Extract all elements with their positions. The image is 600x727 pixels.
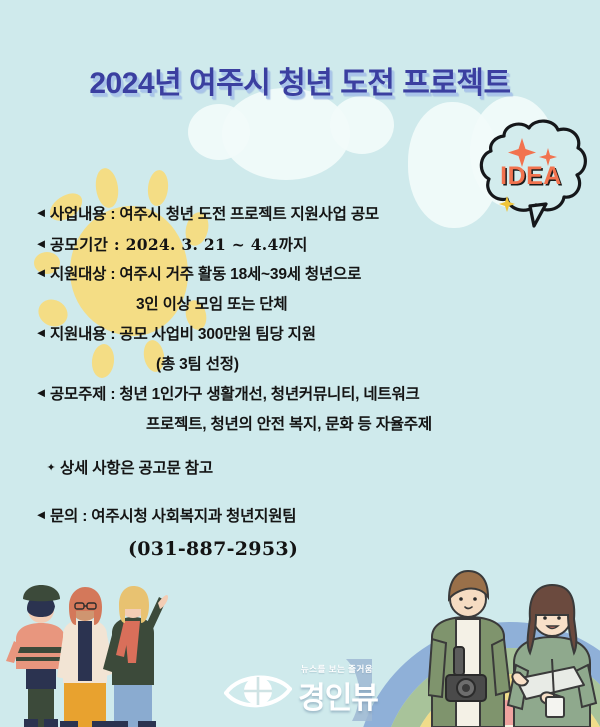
dash-bullet-icon: ◄ xyxy=(32,500,50,530)
list-item-label: 문의 : 여주시청 사회복지과 청년지원팀 xyxy=(50,502,296,532)
logo: 뉴스를 보는 즐거움 경인뷰 xyxy=(224,659,392,721)
list-item-label: 지원대상 : 여주시 거주 활동 18세~39세 청년으로 xyxy=(50,260,361,290)
list-item-label: 공모기간 : 2024. 3. 21 ~ 4.4까지 xyxy=(50,230,308,260)
illustration-right-group xyxy=(428,567,600,727)
dash-bullet-icon: ◄ xyxy=(32,198,50,228)
page-title: 2024년 여주시 청년 도전 프로젝트 xyxy=(0,58,600,102)
star-bullet-icon: ✦ xyxy=(42,453,60,483)
dash-bullet-icon: ◄ xyxy=(32,229,50,259)
dash-bullet-icon: ◄ xyxy=(32,348,50,378)
list-item-label: 상세 사항은 공고문 참고 xyxy=(60,454,213,484)
list-item-label: 프로젝트, 청년의 안전 복지, 문화 등 자율주제 xyxy=(146,410,432,440)
list-item: ◄ 공모주제 : 청년 1인가구 생활개선, 청년커뮤니티, 네트워크 xyxy=(32,380,600,410)
list-item-label: (총 3팀 선정) xyxy=(156,350,239,380)
list-item: ◄ 지원대상 : 여주시 거주 활동 18세~39세 청년으로 xyxy=(32,260,600,290)
contact-phone-number: (031-887-2953) xyxy=(128,532,298,566)
list-item: ◄ 지원내용 : 공모 사업비 300만원 팀당 지원 xyxy=(32,320,600,350)
poster-canvas: 2024년 여주시 청년 도전 프로젝트 IDEA ◄ 사업내용 : 여주시 청… xyxy=(0,0,600,727)
cloud-blob-icon xyxy=(188,104,250,160)
list-item-label: 공모주제 : 청년 1인가구 생활개선, 청년커뮤니티, 네트워크 xyxy=(50,380,420,410)
list-item: ✦ 상세 사항은 공고문 참고 xyxy=(42,454,600,484)
list-item: ◄ (총 3팀 선정) xyxy=(32,350,600,380)
dash-bullet-icon: ◄ xyxy=(32,378,50,408)
list-item-label: 지원내용 : 공모 사업비 300만원 팀당 지원 xyxy=(50,320,316,350)
list-item: ◄ 문의 : 여주시청 사회복지과 청년지원팀 xyxy=(32,502,600,532)
cloud-blob-icon xyxy=(330,96,394,154)
dash-bullet-icon: ◄ xyxy=(32,318,50,348)
illustration-left-group xyxy=(2,577,168,727)
list-item-label: 사업내용 : 여주시 청년 도전 프로젝트 지원사업 공모 xyxy=(50,200,379,230)
content-list: ◄ 사업내용 : 여주시 청년 도전 프로젝트 지원사업 공모 ◄ 공모기간 :… xyxy=(0,200,600,566)
list-item: ◄ 사업내용 : 여주시 청년 도전 프로젝트 지원사업 공모 xyxy=(32,200,600,230)
list-item: ◄ 공모기간 : 2024. 3. 21 ~ 4.4까지 xyxy=(32,230,600,260)
dash-bullet-icon: ◄ xyxy=(32,258,50,288)
list-item-label: 3인 이상 모임 또는 단체 xyxy=(136,290,287,320)
logo-name: 경인뷰 xyxy=(282,673,394,717)
list-item: ◄ 3인 이상 모임 또는 단체 xyxy=(32,290,600,320)
contact-phone-row: ◄ (031-887-2953) xyxy=(32,532,600,566)
dash-bullet-icon: ◄ xyxy=(32,408,50,438)
dash-bullet-icon: ◄ xyxy=(32,288,50,318)
idea-label: IDEA xyxy=(474,162,588,191)
dash-bullet-icon: ◄ xyxy=(32,532,50,566)
list-item: ◄ 프로젝트, 청년의 안전 복지, 문화 등 자율주제 xyxy=(32,410,600,440)
